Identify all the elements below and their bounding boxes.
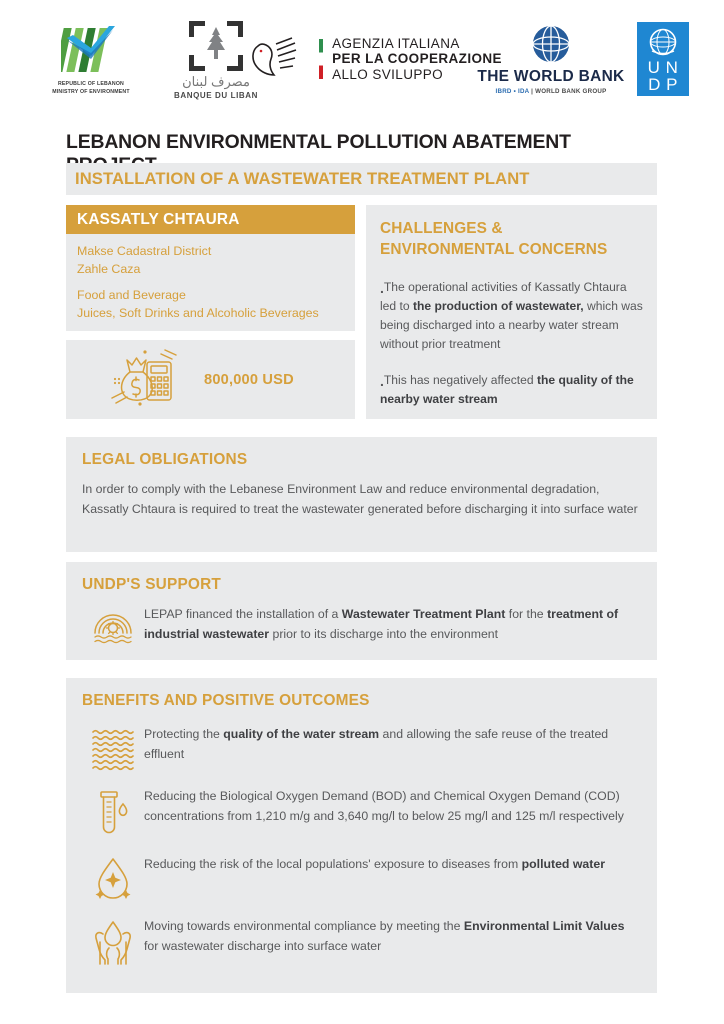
challenge-text-part1: This has negatively affected bbox=[384, 373, 537, 387]
challenges-title: CHALLENGES & ENVIRONMENTAL CONCERNS bbox=[380, 218, 643, 261]
benefit-text-part1: Reducing the risk of the local populatio… bbox=[144, 857, 522, 871]
undp-text-part2: for the bbox=[505, 607, 547, 621]
benefit-item: Reducing the risk of the local populatio… bbox=[82, 854, 641, 902]
undp-text-part3: prior to its discharge into the environm… bbox=[269, 627, 498, 641]
un-emblem-icon bbox=[648, 27, 678, 57]
bdl-caption: BANQUE DU LIBAN bbox=[174, 91, 258, 100]
challenges-title-line1: CHALLENGES & bbox=[380, 218, 643, 239]
undp-letters-line2: D P bbox=[648, 76, 679, 93]
challenge-item: .This has negatively affected the qualit… bbox=[380, 368, 643, 409]
world-bank-sub-right: WORLD BANK GROUP bbox=[535, 88, 606, 95]
benefit-text-part1: Protecting the bbox=[144, 727, 223, 741]
world-bank-logo: THE WORLD BANK IBRD • IDA | WORLD BANK G… bbox=[475, 23, 627, 95]
challenges-card: CHALLENGES & ENVIRONMENTAL CONCERNS .The… bbox=[366, 205, 657, 419]
logo-bar: REPUBLIC OF LEBANON MINISTRY OF ENVIRONM… bbox=[0, 0, 724, 118]
page-subtitle: INSTALLATION OF A WASTEWATER TREATMENT P… bbox=[75, 169, 530, 189]
agenzia-italiana-logo: AGENZIA ITALIANA PER LA COOPERAZIONE ALL… bbox=[275, 36, 475, 82]
benefit-text-part1: Reducing the Biological Oxygen Demand (B… bbox=[144, 789, 624, 823]
gear-water-treatment-icon bbox=[82, 604, 144, 648]
benefit-item: Reducing the Biological Oxygen Demand (B… bbox=[82, 786, 641, 840]
benefit-text: Reducing the Biological Oxygen Demand (B… bbox=[144, 786, 641, 827]
moe-caption-line1: REPUBLIC OF LEBANON bbox=[58, 81, 124, 87]
undp-logo: U N D P bbox=[627, 22, 699, 96]
undp-support-text: LEPAP financed the installation of a Was… bbox=[144, 604, 641, 645]
moe-emblem-icon bbox=[61, 22, 121, 78]
company-name-header: KASSATLY CHTAURA bbox=[66, 205, 355, 234]
italian-flag-bar-icon bbox=[319, 39, 323, 79]
budget-amount: 800,000 USD bbox=[204, 372, 294, 388]
moe-caption: REPUBLIC OF LEBANON MINISTRY OF ENVIRONM… bbox=[52, 81, 130, 97]
benefit-text-part1: Moving towards environmental compliance … bbox=[144, 919, 464, 933]
company-location-district: Makse Cadastral District bbox=[77, 243, 344, 261]
moe-caption-line2: MINISTRY OF ENVIRONMENT bbox=[52, 89, 130, 95]
bdl-arabic-name: مصرف لبنان bbox=[182, 75, 250, 88]
dove-hand-icon bbox=[248, 36, 310, 82]
benefit-text: Protecting the quality of the water stre… bbox=[144, 724, 641, 765]
globe-icon bbox=[527, 23, 575, 67]
benefit-text-bold1: quality of the water stream bbox=[223, 727, 379, 741]
benefit-text: Moving towards environmental compliance … bbox=[144, 916, 641, 957]
infographic-page: REPUBLIC OF LEBANON MINISTRY OF ENVIRONM… bbox=[0, 0, 724, 1024]
world-bank-sub-left: IBRD • IDA bbox=[496, 88, 530, 95]
company-sector: Food and Beverage bbox=[77, 287, 344, 305]
benefit-text-bold1: polluted water bbox=[522, 857, 605, 871]
challenges-title-line2: ENVIRONMENTAL CONCERNS bbox=[380, 239, 643, 260]
benefit-text: Reducing the risk of the local populatio… bbox=[144, 854, 641, 874]
legal-obligations-title: LEGAL OBLIGATIONS bbox=[82, 451, 641, 469]
undp-support-row: LEPAP financed the installation of a Was… bbox=[82, 604, 641, 648]
challenge-text-bold1: the production of wastewater, bbox=[413, 299, 584, 313]
benefits-panel: BENEFITS AND POSITIVE OUTCOMES Protectin… bbox=[66, 678, 657, 993]
money-bag-calculator-icon bbox=[108, 346, 182, 413]
benefit-text-bold1: Environmental Limit Values bbox=[464, 919, 625, 933]
benefit-item: Protecting the quality of the water stre… bbox=[82, 724, 641, 772]
world-bank-subtitle: IBRD • IDA | WORLD BANK GROUP bbox=[496, 88, 607, 95]
company-subsector: Juices, Soft Drinks and Alcoholic Bevera… bbox=[77, 305, 344, 323]
benefits-title: BENEFITS AND POSITIVE OUTCOMES bbox=[82, 692, 641, 710]
clean-water-droplet-icon bbox=[82, 854, 144, 902]
undp-text-bold1: Wastewater Treatment Plant bbox=[342, 607, 506, 621]
company-details: Makse Cadastral District Zahle Caza Food… bbox=[66, 234, 355, 322]
budget-card: 800,000 USD bbox=[66, 340, 355, 419]
undp-letters-line1: U N bbox=[648, 59, 679, 76]
world-bank-title: THE WORLD BANK bbox=[477, 68, 624, 86]
cedar-in-frame-icon bbox=[187, 19, 245, 73]
page-subtitle-bar: INSTALLATION OF A WASTEWATER TREATMENT P… bbox=[66, 163, 657, 195]
company-name: KASSATLY CHTAURA bbox=[77, 211, 240, 229]
benefit-text-part2: for wastewater discharge into surface wa… bbox=[144, 939, 381, 953]
bullet-dot: . bbox=[380, 373, 384, 389]
ministry-of-environment-logo: REPUBLIC OF LEBANON MINISTRY OF ENVIRONM… bbox=[25, 22, 157, 97]
benefit-item: Moving towards environmental compliance … bbox=[82, 916, 641, 966]
hands-holding-droplet-icon bbox=[82, 916, 144, 966]
challenge-item: .The operational activities of Kassatly … bbox=[380, 275, 643, 354]
undp-letters: U N D P bbox=[648, 59, 679, 94]
undp-text-part1: LEPAP financed the installation of a bbox=[144, 607, 342, 621]
legal-obligations-text: In order to comply with the Lebanese Env… bbox=[82, 479, 641, 519]
test-tube-icon bbox=[82, 786, 144, 840]
undp-support-panel: UNDP'S SUPPORT LEPAP financed the instal… bbox=[66, 562, 657, 660]
company-card: KASSATLY CHTAURA Makse Cadastral Distric… bbox=[66, 205, 355, 331]
undp-support-title: UNDP'S SUPPORT bbox=[82, 576, 641, 594]
company-location-caza: Zahle Caza bbox=[77, 261, 344, 279]
water-waves-icon bbox=[82, 724, 144, 772]
bullet-dot: . bbox=[380, 280, 384, 296]
legal-obligations-panel: LEGAL OBLIGATIONS In order to comply wit… bbox=[66, 437, 657, 552]
undp-blue-box: U N D P bbox=[637, 22, 689, 96]
